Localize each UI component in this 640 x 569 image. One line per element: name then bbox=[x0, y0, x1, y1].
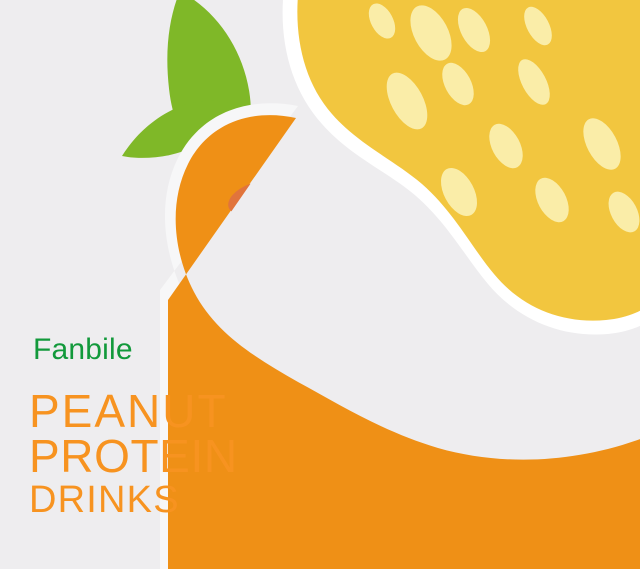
peanut-illustration bbox=[0, 0, 640, 569]
poster-canvas: Fanbile PEANUT PROTEIN DRINKS bbox=[0, 0, 640, 569]
